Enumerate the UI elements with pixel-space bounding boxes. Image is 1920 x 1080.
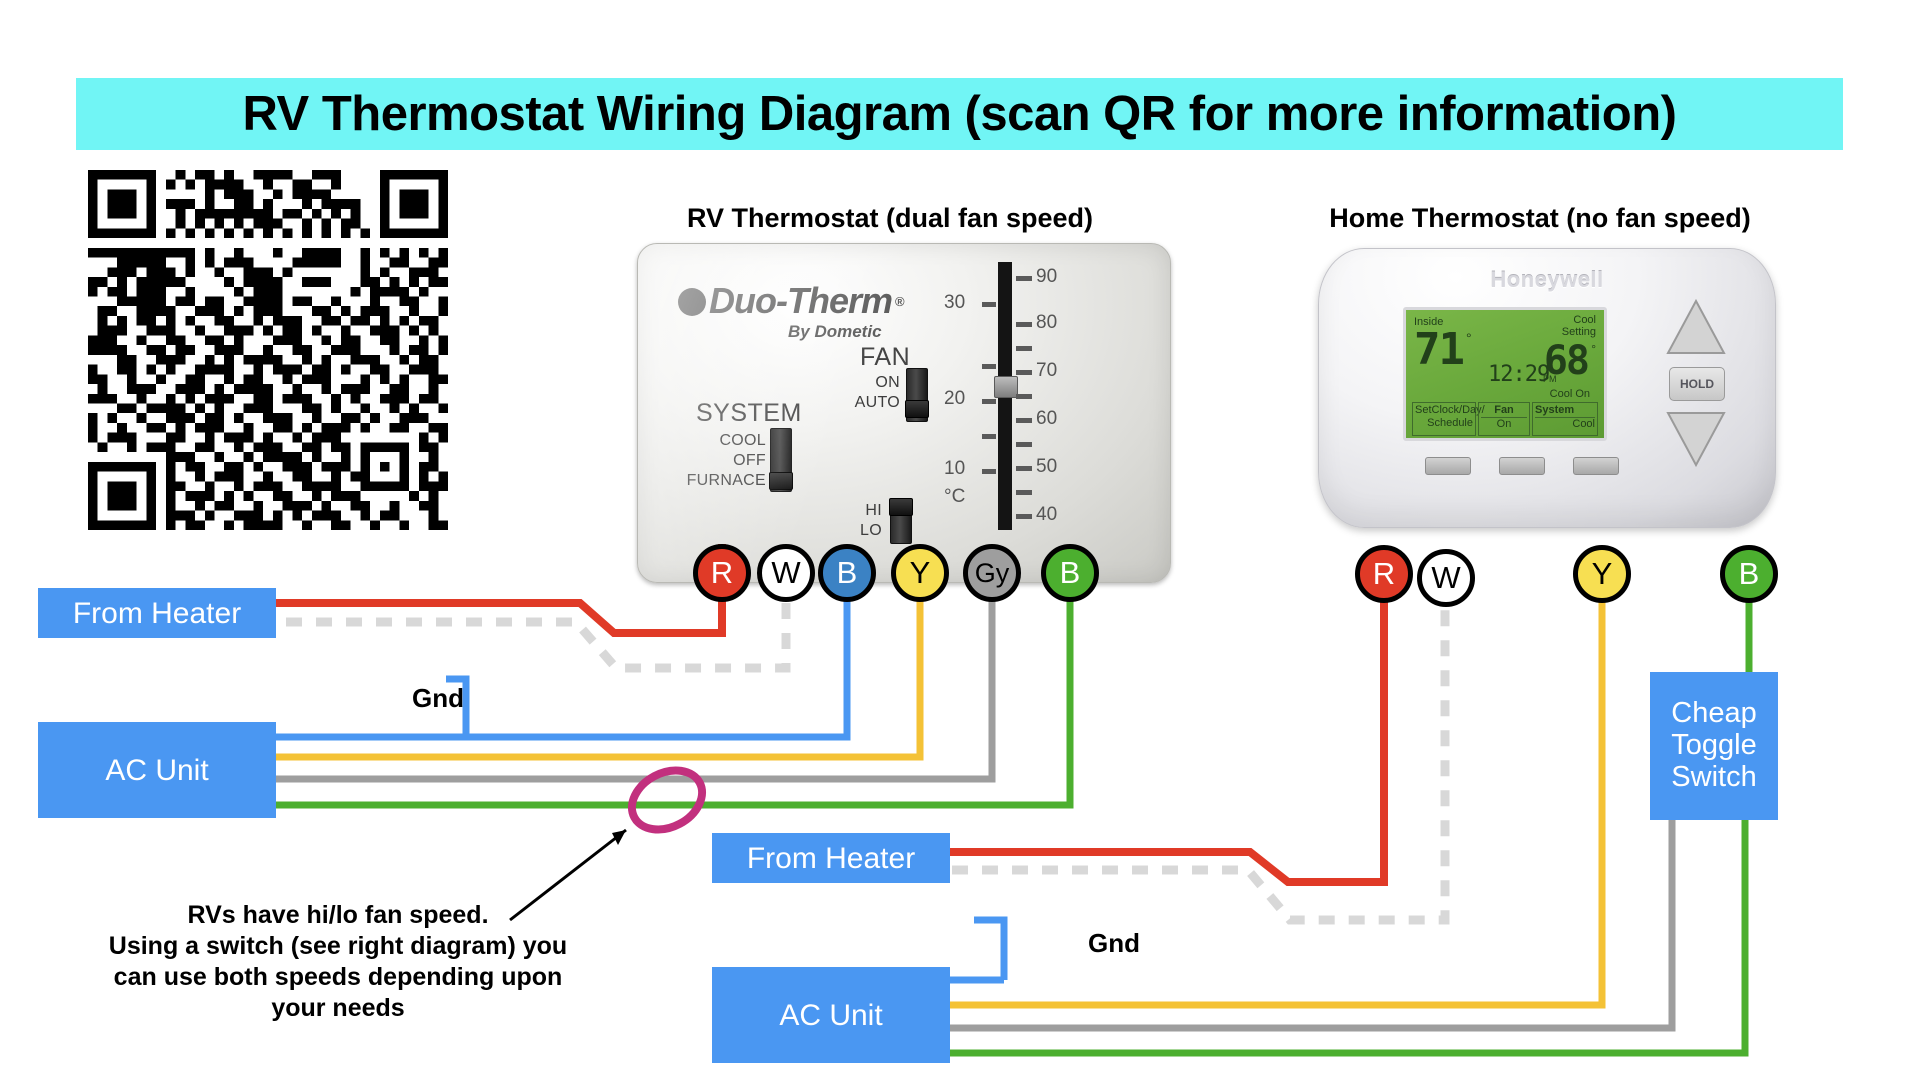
annotation-layer — [0, 0, 1920, 1080]
rv-terminal-b-blue[interactable]: B — [818, 544, 876, 602]
home-terminal-b[interactable]: B — [1720, 545, 1778, 603]
rv-terminal-r[interactable]: R — [693, 544, 751, 602]
diagram-canvas: RV Thermostat Wiring Diagram (scan QR fo… — [0, 0, 1920, 1080]
home-terminal-w[interactable]: W — [1417, 549, 1475, 607]
home-terminal-r[interactable]: R — [1355, 545, 1413, 603]
rv-terminal-w[interactable]: W — [757, 544, 815, 602]
rv-terminal-gy[interactable]: Gy — [963, 544, 1021, 602]
rv-terminal-b-green[interactable]: B — [1041, 544, 1099, 602]
home-terminal-y[interactable]: Y — [1573, 545, 1631, 603]
rv-terminal-y[interactable]: Y — [891, 544, 949, 602]
pointer-line — [510, 830, 626, 920]
highlight-circle — [622, 759, 713, 841]
